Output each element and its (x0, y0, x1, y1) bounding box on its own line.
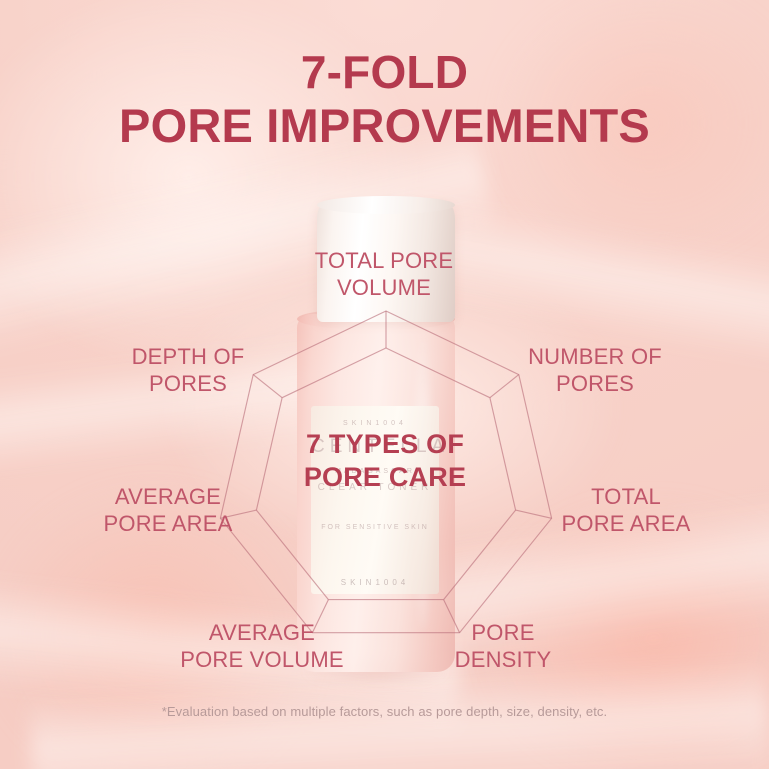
spoke-label-depth-of-pores: DEPTH OF PORES (92, 344, 284, 398)
poster-canvas: SKIN1004 CENTELLA MADAGASCAR CLEAR TONER… (0, 0, 769, 769)
spoke-label-average-pore-volume: AVERAGE PORE VOLUME (142, 620, 382, 674)
spoke-label-total-pore-area: TOTAL PORE AREA (520, 484, 732, 538)
spoke-label-number-of-pores: NUMBER OF PORES (494, 344, 696, 398)
headline-line-1: 7-FOLD (0, 46, 769, 99)
headline-line-2: PORE IMPROVEMENTS (0, 99, 769, 154)
footnote: *Evaluation based on multiple factors, s… (0, 704, 769, 719)
bottle-label-brandline: SKIN1004 (311, 420, 439, 427)
spoke-label-pore-density: PORE DENSITY (404, 620, 602, 674)
page-title: 7-FOLD PORE IMPROVEMENTS (0, 46, 769, 154)
bottle-label-sub3: FOR SENSITIVE SKIN (311, 524, 439, 531)
center-label: 7 TYPES OF PORE CARE (256, 428, 514, 494)
spoke-label-total-pore-volume: TOTAL PORE VOLUME (268, 248, 500, 302)
bottle-label-footer: SKIN1004 (311, 578, 439, 587)
spoke-label-average-pore-area: AVERAGE PORE AREA (62, 484, 274, 538)
